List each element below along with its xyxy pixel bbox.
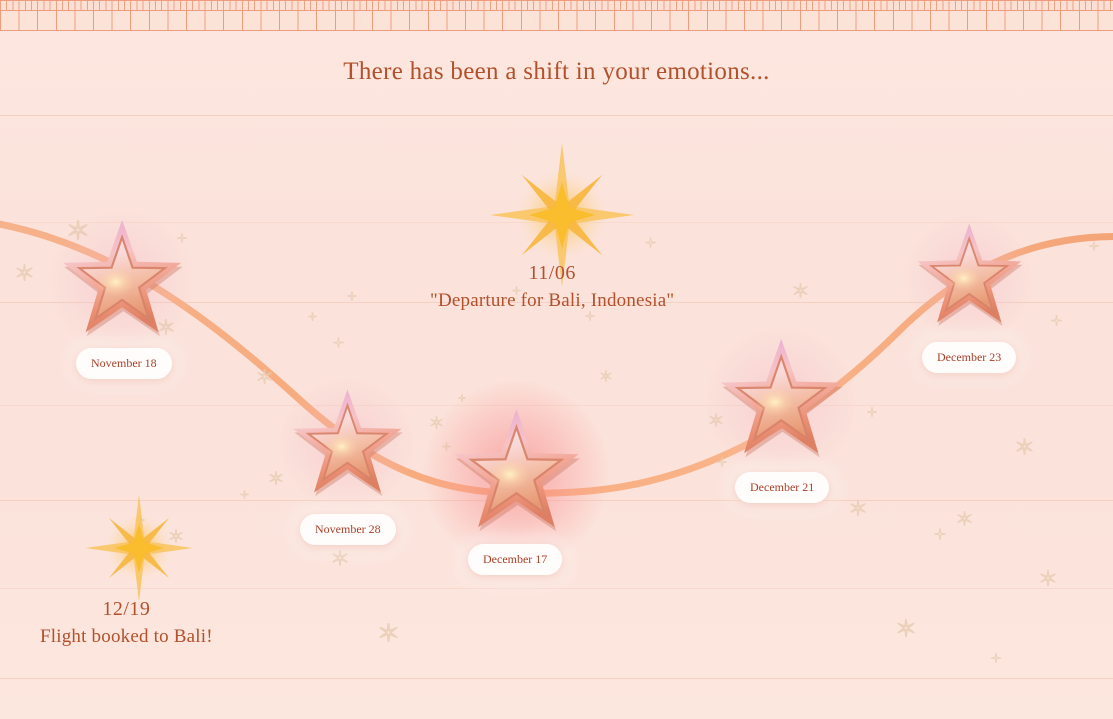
star-icon [447, 405, 586, 544]
pill-november-28[interactable]: November 28 [300, 514, 396, 545]
page-title: There has been a shift in your emotions.… [0, 58, 1113, 86]
ruler-fine-ticks [0, 0, 1113, 11]
star-icon [287, 386, 408, 507]
sparkle-icon [240, 490, 249, 499]
star-november-28[interactable] [287, 386, 408, 507]
annotation-flight-booked: 12/19Flight booked to Bali! [40, 596, 213, 652]
sparkle-icon [934, 528, 946, 540]
sparkle-icon [347, 291, 357, 301]
sparkle-icon [169, 529, 183, 543]
sparkle-icon [379, 623, 398, 642]
pill-november-18[interactable]: November 18 [76, 348, 172, 379]
annotation-date: 11/06 [430, 260, 674, 287]
star-icon [56, 216, 188, 348]
ruler-coarse-ticks [0, 11, 1113, 31]
annotation-departure: 11/06"Departure for Bali, Indonesia" [430, 260, 674, 316]
annotation-text: "Departure for Bali, Indonesia" [430, 287, 674, 316]
sparkle-icon [1051, 315, 1062, 326]
star-november-18[interactable] [56, 216, 188, 348]
sparkle-icon [1040, 570, 1056, 586]
sparkle-icon [257, 369, 272, 384]
sparkle-icon [16, 264, 33, 281]
gridline [0, 678, 1113, 679]
sparkle-icon [645, 237, 656, 248]
pill-december-17[interactable]: December 17 [468, 544, 562, 575]
sparkle-icon [458, 394, 466, 402]
sparkle-icon [850, 500, 866, 516]
sparkle-burst-icon [83, 492, 195, 609]
sparkle-icon [332, 550, 348, 566]
star-icon [714, 335, 848, 469]
star-december-23[interactable] [911, 220, 1027, 336]
top-ruler-strip [0, 0, 1113, 31]
sparkle-icon [1016, 438, 1033, 455]
sparkle-icon [269, 471, 283, 485]
star-icon [911, 220, 1027, 336]
sparkle-icon [600, 370, 612, 382]
sparkle-icon [1089, 241, 1099, 251]
sparkle-icon [957, 511, 972, 526]
sparkle-icon [333, 337, 344, 348]
sparkle-icon [867, 407, 877, 417]
sparkle-icon [430, 416, 443, 429]
sparkle-icon [135, 515, 145, 525]
annotation-date: 12/19 [40, 596, 213, 623]
sparkle-icon [793, 283, 808, 298]
gridline [0, 588, 1113, 589]
gridline [0, 115, 1113, 116]
star-december-17[interactable] [447, 405, 586, 544]
emotion-timeline-canvas: November 18November 28December 17Decembe… [0, 0, 1113, 719]
sparkle-icon [897, 619, 915, 637]
sparkle-icon [308, 312, 317, 321]
sparkle-icon [991, 653, 1001, 663]
pill-december-23[interactable]: December 23 [922, 342, 1016, 373]
pill-december-21[interactable]: December 21 [735, 472, 829, 503]
annotation-text: Flight booked to Bali! [40, 623, 213, 652]
star-december-21[interactable] [714, 335, 848, 469]
